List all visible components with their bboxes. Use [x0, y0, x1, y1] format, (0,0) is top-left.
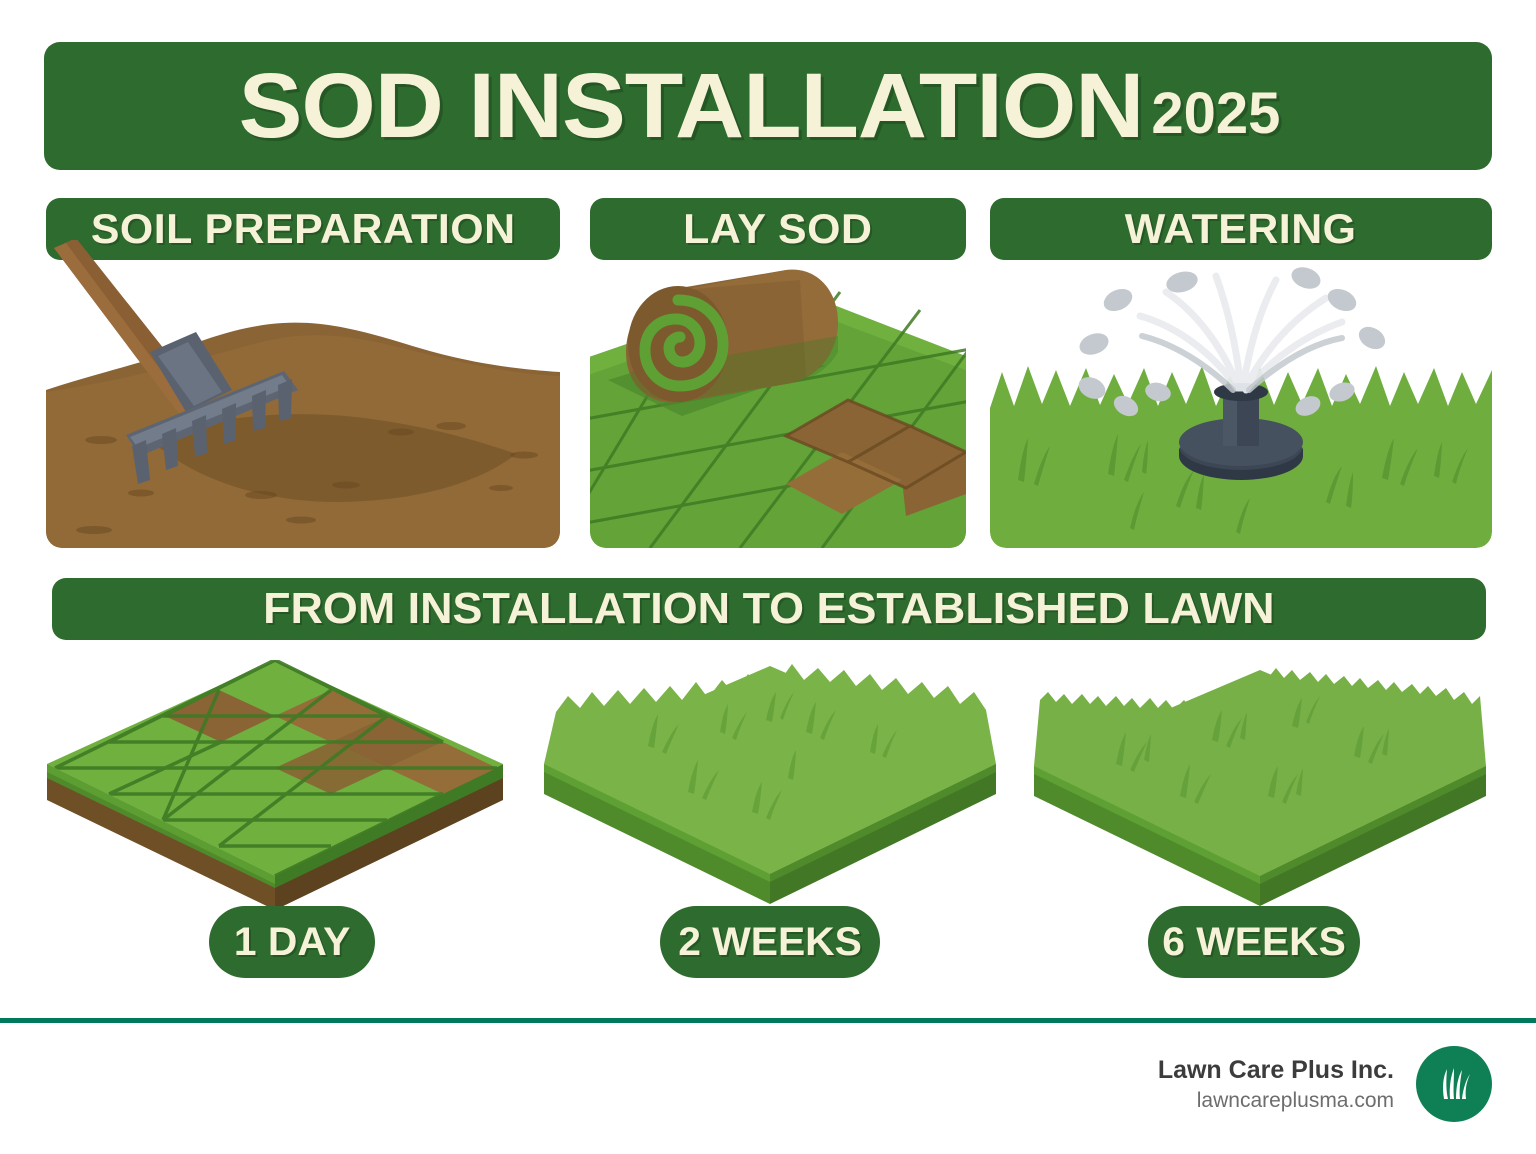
patchwork-sod-tiles-icon — [35, 660, 515, 910]
established-lawn-icon — [1020, 660, 1500, 910]
title-banner: SOD INSTALLATION 2025 — [44, 42, 1492, 170]
grass-blades-logo — [1416, 1046, 1492, 1122]
footer-branding: Lawn Care Plus Inc. lawncareplusma.com — [1158, 1046, 1492, 1122]
timeline-banner: FROM INSTALLATION TO ESTABLISHED LAWN — [52, 578, 1486, 640]
timeline-pill-2-weeks: 2 WEEKS — [660, 906, 880, 978]
lay-sod-illustration — [590, 240, 966, 548]
timeline-pill-label: 6 WEEKS — [1162, 920, 1346, 965]
year-badge: 2025 — [1151, 85, 1280, 143]
timeline-banner-label: FROM INSTALLATION TO ESTABLISHED LAWN — [263, 584, 1274, 634]
sod-roll-icon — [590, 240, 966, 548]
sprinkler-icon — [990, 240, 1492, 548]
soil-preparation-illustration — [46, 240, 560, 548]
grass-icon — [1431, 1061, 1477, 1107]
timeline-pill-label: 1 DAY — [234, 920, 350, 965]
timeline-pill-1-day: 1 DAY — [209, 906, 375, 978]
brand-url: lawncareplusma.com — [1197, 1089, 1394, 1113]
page-title: SOD INSTALLATION — [238, 60, 1143, 152]
watering-illustration — [990, 240, 1492, 548]
timeline-pill-6-weeks: 6 WEEKS — [1148, 906, 1360, 978]
timeline-pill-label: 2 WEEKS — [678, 920, 862, 965]
growing-lawn-icon — [530, 660, 1010, 910]
infographic-canvas: SOD INSTALLATION 2025 SOIL PREPARATION L… — [0, 0, 1536, 1154]
footer-divider — [0, 1018, 1536, 1023]
rake-in-soil-icon — [46, 240, 560, 548]
brand-name: Lawn Care Plus Inc. — [1158, 1056, 1394, 1085]
footer-text-block: Lawn Care Plus Inc. lawncareplusma.com — [1158, 1056, 1394, 1113]
